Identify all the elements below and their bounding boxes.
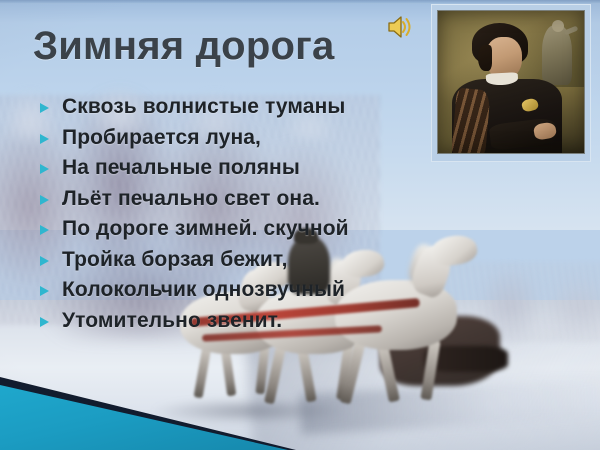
list-item: Льёт печально свет она. [38, 184, 438, 215]
list-item-label: Сквозь волнистые туманы [62, 95, 345, 119]
triangle-bullet-icon [40, 103, 49, 113]
list-item: На печальные поляны [38, 153, 438, 184]
list-item: Сквозь волнистые туманы [38, 92, 438, 123]
list-item-label: На печальные поляны [62, 156, 300, 180]
speaker-icon[interactable] [386, 14, 414, 40]
triangle-bullet-icon [40, 317, 49, 327]
triangle-bullet-icon [40, 134, 49, 144]
triangle-bullet-icon [40, 256, 49, 266]
list-item: Тройка борзая бежит, [38, 245, 438, 276]
list-item-label: Колокольчик однозвучный [62, 278, 345, 302]
page-title: Зимняя дорога [33, 24, 334, 69]
list-item: Колокольчик однозвучный [38, 275, 438, 306]
triangle-bullet-icon [40, 195, 49, 205]
list-item: По дороге зимней. скучной [38, 214, 438, 245]
portrait-inner-shadow [438, 11, 584, 153]
pushkin-portrait[interactable] [431, 4, 591, 162]
list-item: Пробирается луна, [38, 123, 438, 154]
triangle-bullet-icon [40, 164, 49, 174]
list-item-label: Утомительно звенит. [62, 309, 282, 333]
list-item: Утомительно звенит. [38, 306, 438, 337]
triangle-bullet-icon [40, 225, 49, 235]
presentation-slide: Зимняя дорога [0, 0, 600, 450]
poem-list: Сквозь волнистые туманы Пробирается луна… [38, 92, 438, 336]
corner-banner [0, 375, 300, 450]
triangle-bullet-icon [40, 286, 49, 296]
list-item-label: По дороге зимней. скучной [62, 217, 349, 241]
list-item-label: Тройка борзая бежит, [62, 248, 288, 272]
list-item-label: Пробирается луна, [62, 126, 261, 150]
portrait-canvas [438, 11, 584, 153]
list-item-label: Льёт печально свет она. [62, 187, 320, 211]
